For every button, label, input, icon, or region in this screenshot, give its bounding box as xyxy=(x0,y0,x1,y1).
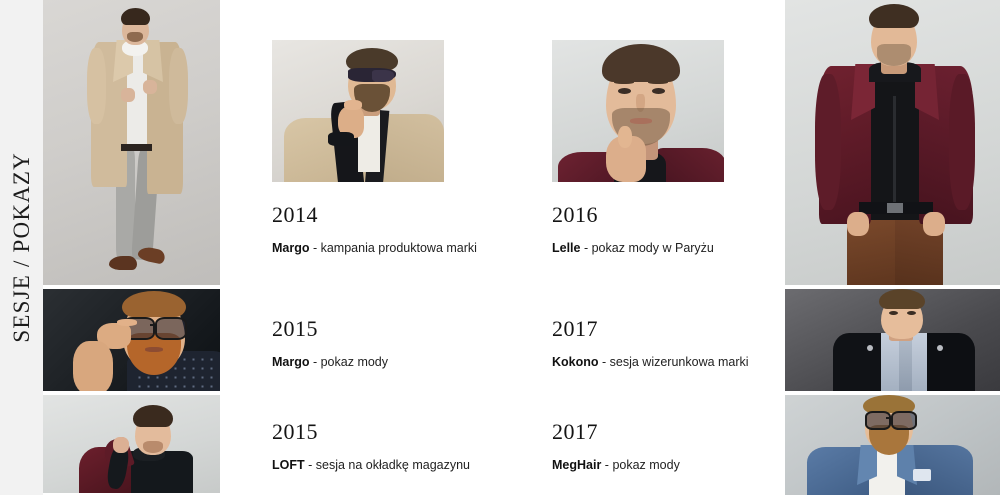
timeline-entry-2017-meghair: 2017 MegHair - pokaz mody xyxy=(552,421,680,474)
entry-year: 2015 xyxy=(272,421,470,443)
entry-separator: - xyxy=(601,458,612,472)
entry-text: kampania produktowa marki xyxy=(321,241,477,255)
timeline-entry-2015-loft: 2015 LOFT - sesja na okładkę magazynu xyxy=(272,421,470,474)
photo-young-man-black-coat-tie[interactable] xyxy=(785,289,1000,393)
timeline-entry-2017-kokono: 2017 Kokono - sesja wizerunkowa marki xyxy=(552,318,749,371)
entry-text: pokaz mody xyxy=(321,355,388,369)
entry-separator: - xyxy=(310,355,321,369)
photo-bearded-man-glasses[interactable] xyxy=(43,289,220,393)
timeline-content: 2014 Margo - kampania produktowa marki 2… xyxy=(220,0,785,495)
timeline-entry-2014: 2014 Margo - kampania produktowa marki xyxy=(272,204,477,257)
entry-separator: - xyxy=(599,355,610,369)
entry-year: 2014 xyxy=(272,204,477,226)
entry-description: Lelle - pokaz mody w Paryżu xyxy=(552,240,714,257)
section-side-label: SESJE / POKAZY xyxy=(0,0,43,495)
timeline-entry-2015-margo: 2015 Margo - pokaz mody xyxy=(272,318,388,371)
entry-separator: - xyxy=(305,458,316,472)
entry-description: Margo - pokaz mody xyxy=(272,354,388,371)
entry-text: sesja wizerunkowa marki xyxy=(610,355,749,369)
entry-brand: MegHair xyxy=(552,458,601,472)
entry-description: Kokono - sesja wizerunkowa marki xyxy=(552,354,749,371)
entry-brand: Lelle xyxy=(552,241,581,255)
photo-beige-overcoat-fullbody[interactable] xyxy=(43,0,220,287)
entry-brand: LOFT xyxy=(272,458,305,472)
thumbnail-2014[interactable] xyxy=(272,40,444,182)
entry-brand: Margo xyxy=(272,355,310,369)
entry-text: pokaz mody xyxy=(612,458,679,472)
entry-description: Margo - kampania produktowa marki xyxy=(272,240,477,257)
thumbnail-2016[interactable] xyxy=(552,40,724,182)
photo-bearded-man-blue-suit[interactable] xyxy=(785,395,1000,495)
entry-brand: Margo xyxy=(272,241,310,255)
portfolio-page: SESJE / POKAZY xyxy=(0,0,1000,495)
entry-description: LOFT - sesja na okładkę magazynu xyxy=(272,457,470,474)
gallery-right-column xyxy=(785,0,1000,495)
timeline-entry-2016: 2016 Lelle - pokaz mody w Paryżu xyxy=(552,204,714,257)
section-side-label-text: SESJE / POKAZY xyxy=(9,152,35,343)
entry-year: 2016 xyxy=(552,204,714,226)
gallery-left-column xyxy=(43,0,220,495)
entry-year: 2015 xyxy=(272,318,388,340)
entry-separator: - xyxy=(581,241,592,255)
photo-man-burgundy-jacket-shoulder[interactable] xyxy=(43,395,220,495)
entry-text: pokaz mody w Paryżu xyxy=(592,241,714,255)
entry-description: MegHair - pokaz mody xyxy=(552,457,680,474)
entry-separator: - xyxy=(310,241,321,255)
entry-text: sesja na okładkę magazynu xyxy=(316,458,470,472)
entry-year: 2017 xyxy=(552,421,680,443)
entry-year: 2017 xyxy=(552,318,749,340)
entry-brand: Kokono xyxy=(552,355,599,369)
photo-burgundy-blazer-brown-trousers[interactable] xyxy=(785,0,1000,287)
